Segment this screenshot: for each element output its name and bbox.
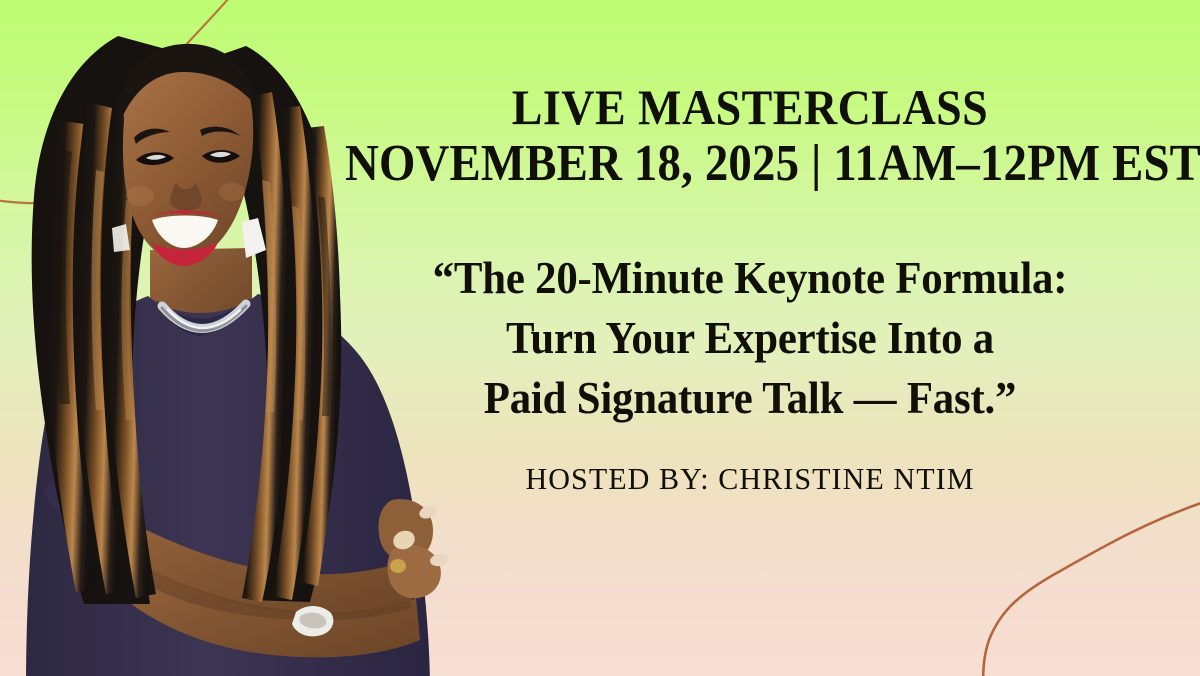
headline-date-time: NOVEMBER 18, 2025 | 11AM–12PM EST: [345, 136, 1155, 191]
text-content: LIVE MASTERCLASS NOVEMBER 18, 2025 | 11A…: [300, 0, 1200, 676]
host-block: HOSTED BY: CHRISTINE NTIM: [300, 461, 1200, 497]
promo-poster: LIVE MASTERCLASS NOVEMBER 18, 2025 | 11A…: [0, 0, 1200, 676]
quote-line-2: Turn Your Expertise Into a: [332, 308, 1169, 368]
quote-line-1: “The 20-Minute Keynote Formula:: [332, 248, 1169, 308]
headline-event-type: LIVE MASTERCLASS: [336, 82, 1164, 132]
host-credit: HOSTED BY: CHRISTINE NTIM: [314, 461, 1187, 497]
quote-line-3: Paid Signature Talk — Fast.”: [332, 368, 1169, 428]
headline-block: LIVE MASTERCLASS NOVEMBER 18, 2025 | 11A…: [300, 82, 1200, 191]
quote-block: “The 20-Minute Keynote Formula: Turn You…: [300, 248, 1200, 427]
